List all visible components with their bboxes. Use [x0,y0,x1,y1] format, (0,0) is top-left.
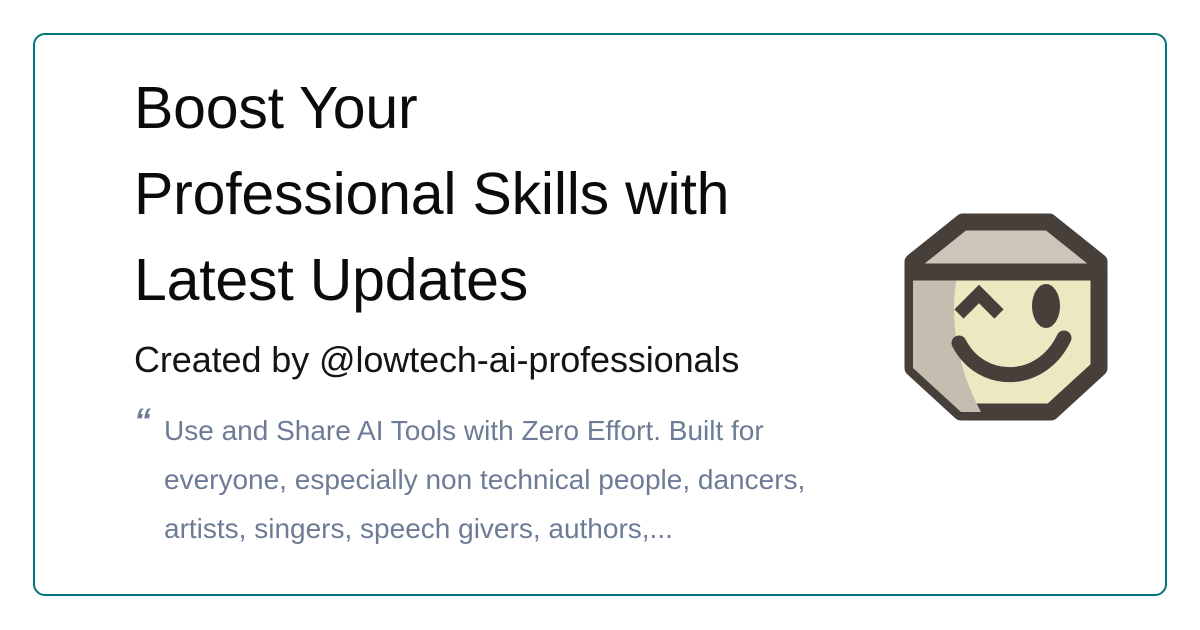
description-quote: “ Use and Share AI Tools with Zero Effor… [134,382,864,553]
avatar [901,210,1111,425]
description-text: Use and Share AI Tools with Zero Effort.… [164,406,864,553]
card-content: Boost Your Professional Skills with Late… [35,35,1165,594]
share-card-page: Boost Your Professional Skills with Late… [0,0,1200,630]
author-byline: Created by @lowtech-ai-professionals [134,323,894,382]
avatar-right-eye [1032,284,1060,328]
text-column: Boost Your Professional Skills with Late… [134,65,894,553]
winking-face-avatar-icon [901,210,1111,425]
quote-mark-icon: “ [134,404,150,438]
share-card: Boost Your Professional Skills with Late… [33,33,1167,596]
page-title: Boost Your Professional Skills with Late… [134,65,894,323]
